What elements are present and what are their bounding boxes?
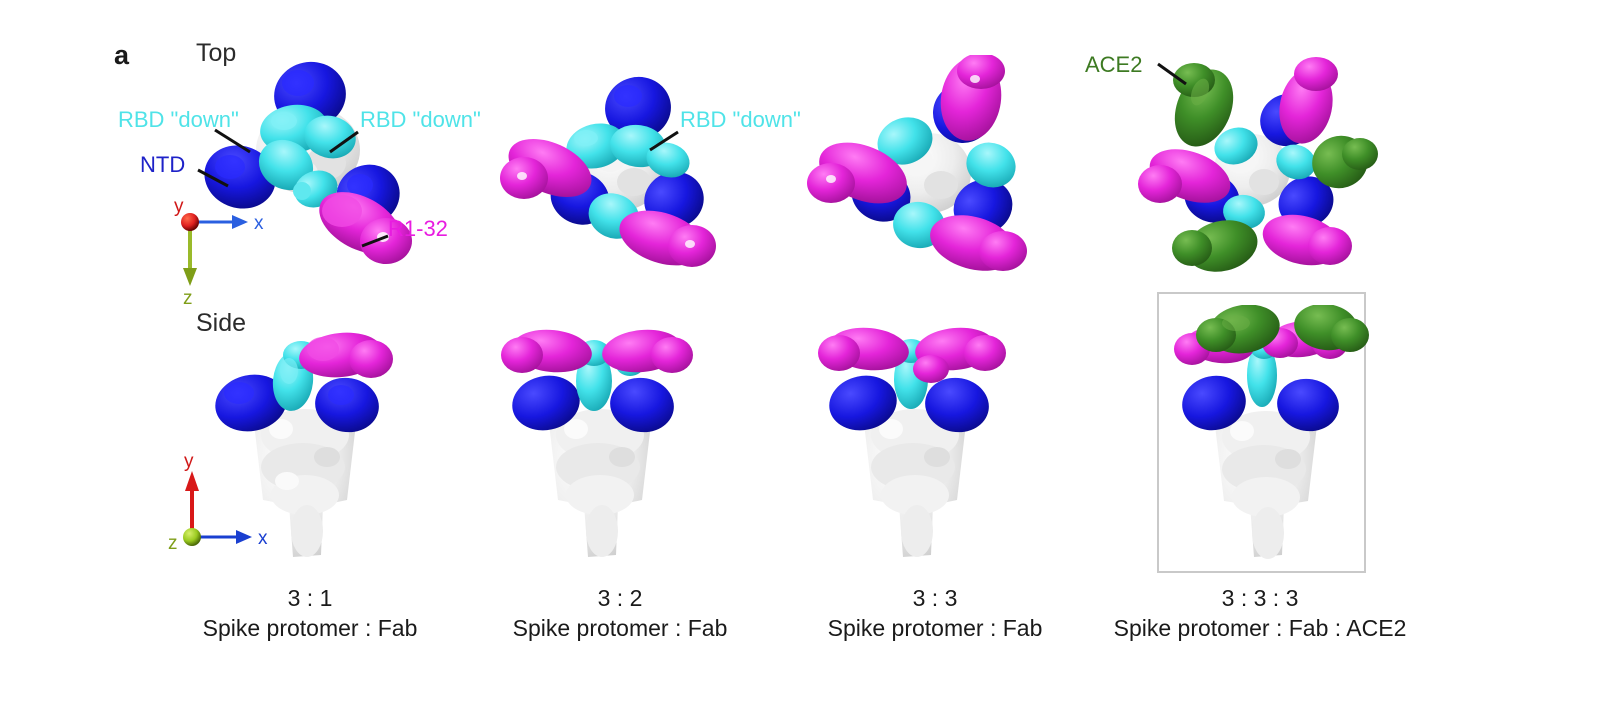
axis-label-y: y xyxy=(184,451,194,472)
axis-label-z: z xyxy=(183,288,193,306)
axis-z-arrow xyxy=(183,226,197,286)
caption-ratio-col-2: 3 : 2 xyxy=(490,585,750,612)
figure-panel-a: a Top Side xyxy=(0,0,1616,701)
axis-widget-top-view: y x z xyxy=(168,196,288,306)
axis-widget-side-view: y x z xyxy=(160,445,280,560)
axis-y-arrow xyxy=(185,471,199,537)
axis-z-origin-dot xyxy=(183,528,201,546)
axis-label-z: z xyxy=(168,533,178,554)
caption-ratio-col-4: 3 : 3 : 3 xyxy=(1130,585,1390,612)
axis-label-x: x xyxy=(254,213,264,234)
leader-ace2 xyxy=(1158,64,1186,84)
leader-ntd xyxy=(198,170,228,186)
leader-rbd-1 xyxy=(215,130,250,152)
caption-ratio-col-3: 3 : 3 xyxy=(805,585,1065,612)
caption-composition-col-4: Spike protomer : Fab : ACE2 xyxy=(1040,615,1480,642)
axis-label-y: y xyxy=(174,196,184,217)
axis-x-arrow xyxy=(196,530,252,544)
axis-label-x: x xyxy=(258,528,268,549)
axis-y-origin-dot xyxy=(181,213,199,231)
caption-composition-col-2: Spike protomer : Fab xyxy=(450,615,790,642)
caption-composition-col-1: Spike protomer : Fab xyxy=(140,615,480,642)
leader-rbd-3 xyxy=(650,132,678,150)
caption-ratio-col-1: 3 : 1 xyxy=(180,585,440,612)
leader-rbd-2 xyxy=(330,132,358,152)
leader-fab xyxy=(362,236,388,246)
